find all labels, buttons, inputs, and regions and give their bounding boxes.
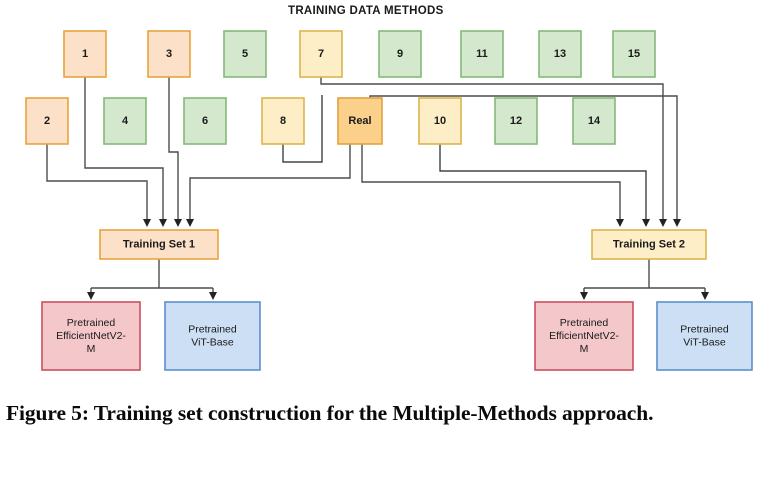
method-node-m5[interactable]: 5 [224,31,266,77]
training-set-node-label-ts2: Training Set 2 [613,238,685,250]
method-node-m7[interactable]: 7 [300,31,342,77]
method-node-label-real: Real [348,115,371,127]
method-node-label-m5: 5 [242,48,248,60]
arrowhead-ah-eff2 [580,292,588,300]
arrowhead-ah-vit2 [701,292,709,300]
method-node-m6[interactable]: 6 [184,98,226,144]
training-set-node-ts1[interactable]: Training Set 1 [100,230,218,259]
connector-e-real-ts1 [190,144,350,219]
arrowhead-ah-ts2-2 [642,219,650,227]
method-node-m2[interactable]: 2 [26,98,68,144]
model-node-vit2[interactable]: PretrainedViT-Base [657,302,752,370]
model-node-label-eff1: EfficientNetV2- [56,330,126,342]
model-node-label-eff1: Pretrained [67,317,116,329]
model-node-eff1[interactable]: PretrainedEfficientNetV2-M [42,302,140,370]
arrowhead-ah-ts2-1 [616,219,624,227]
method-node-label-m6: 6 [202,115,208,127]
method-node-m8[interactable]: 8 [262,98,304,144]
model-node-label-eff2: M [580,343,589,355]
method-node-label-m4: 4 [122,115,129,127]
model-node-eff2[interactable]: PretrainedEfficientNetV2-M [535,302,633,370]
connector-e-left-ts2 [362,144,620,219]
model-node-label-eff2: Pretrained [560,317,609,329]
connector-e-ts1-split [91,259,213,297]
method-node-m13[interactable]: 13 [539,31,581,77]
method-node-label-m3: 3 [166,48,172,60]
figure-container: TRAINING DATA METHODS 135791113152468Rea… [0,0,777,477]
method-node-m12[interactable]: 12 [495,98,537,144]
method-node-m9[interactable]: 9 [379,31,421,77]
arrowhead-ah-ts1-3 [174,219,182,227]
method-node-m4[interactable]: 4 [104,98,146,144]
method-node-label-m9: 9 [397,48,403,60]
connector-e-m3-ts1 [169,77,178,219]
method-node-label-m7: 7 [318,48,324,60]
nodes-layer: 135791113152468Real101214Training Set 1T… [26,31,752,370]
method-node-m10[interactable]: 10 [419,98,461,144]
connector-e-m2-ts1 [47,144,147,219]
method-node-label-m1: 1 [82,48,88,60]
arrowhead-ah-ts2-3 [659,219,667,227]
method-node-m1[interactable]: 1 [64,31,106,77]
figure-caption: Figure 5: Training set construction for … [6,398,774,429]
method-node-label-m2: 2 [44,115,50,127]
model-node-label-eff1: M [87,343,96,355]
method-node-m3[interactable]: 3 [148,31,190,77]
model-node-label-vit1: ViT-Base [191,336,234,348]
method-node-label-m14: 14 [588,115,601,127]
method-node-label-m12: 12 [510,115,522,127]
arrowhead-ah-eff1 [87,292,95,300]
training-set-node-ts2[interactable]: Training Set 2 [592,230,706,259]
model-node-label-vit2: Pretrained [680,323,729,335]
arrowhead-ah-ts1-1 [143,219,151,227]
method-node-real[interactable]: Real [338,98,382,144]
method-node-m14[interactable]: 14 [573,98,615,144]
method-node-label-m15: 15 [628,48,640,60]
diagram-title-group: TRAINING DATA METHODS [288,5,444,17]
arrowhead-ah-ts1-2 [159,219,167,227]
diagram-title: TRAINING DATA METHODS [288,5,444,17]
method-node-label-m10: 10 [434,115,446,127]
model-node-label-eff2: EfficientNetV2- [549,330,619,342]
model-node-label-vit2: ViT-Base [683,336,726,348]
method-node-label-m8: 8 [280,115,286,127]
model-node-vit1[interactable]: PretrainedViT-Base [165,302,260,370]
arrowhead-ah-vit1 [209,292,217,300]
arrowhead-ah-ts2-4 [673,219,681,227]
connector-e-ts2-split [584,259,705,297]
arrowhead-ah-ts1-4 [186,219,194,227]
method-node-m15[interactable]: 15 [613,31,655,77]
model-node-label-vit1: Pretrained [188,323,237,335]
method-node-m11[interactable]: 11 [461,31,503,77]
method-node-label-m11: 11 [476,48,488,60]
method-node-label-m13: 13 [554,48,566,60]
training-set-node-label-ts1: Training Set 1 [123,238,195,250]
training-set-construction-diagram: TRAINING DATA METHODS 135791113152468Rea… [0,0,777,392]
